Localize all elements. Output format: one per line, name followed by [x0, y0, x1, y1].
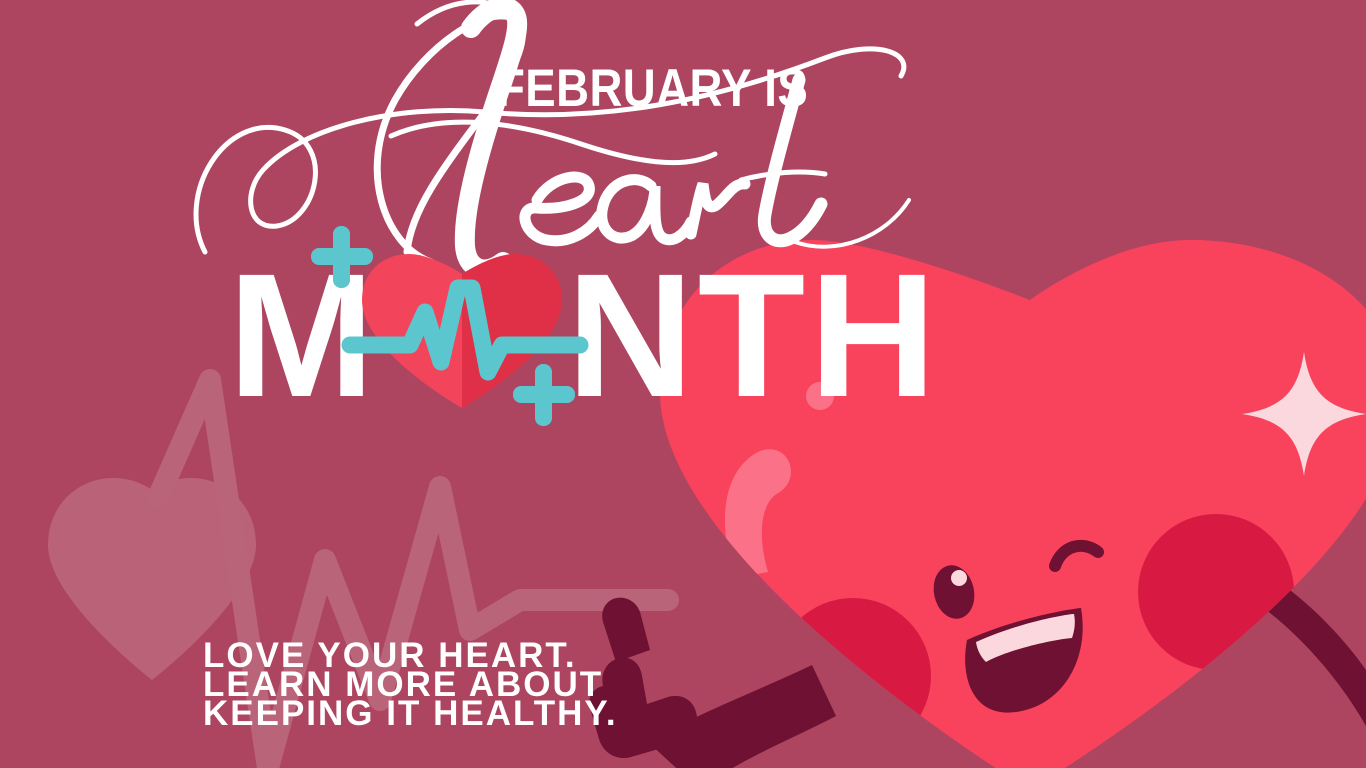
medical-plus-icon-top [311, 226, 373, 288]
tagline: LOVE YOUR HEART. LEARN MORE ABOUT KEEPIN… [203, 641, 618, 728]
heart-month-poster: FEBRUARY IS MNTH LOVE YOUR HEART. LEARN … [0, 0, 1366, 768]
tagline-line-3: KEEPING IT HEALTHY. [203, 699, 618, 728]
logo-heartbeat-line [350, 288, 580, 372]
medical-plus-icon-bottom [513, 364, 575, 426]
